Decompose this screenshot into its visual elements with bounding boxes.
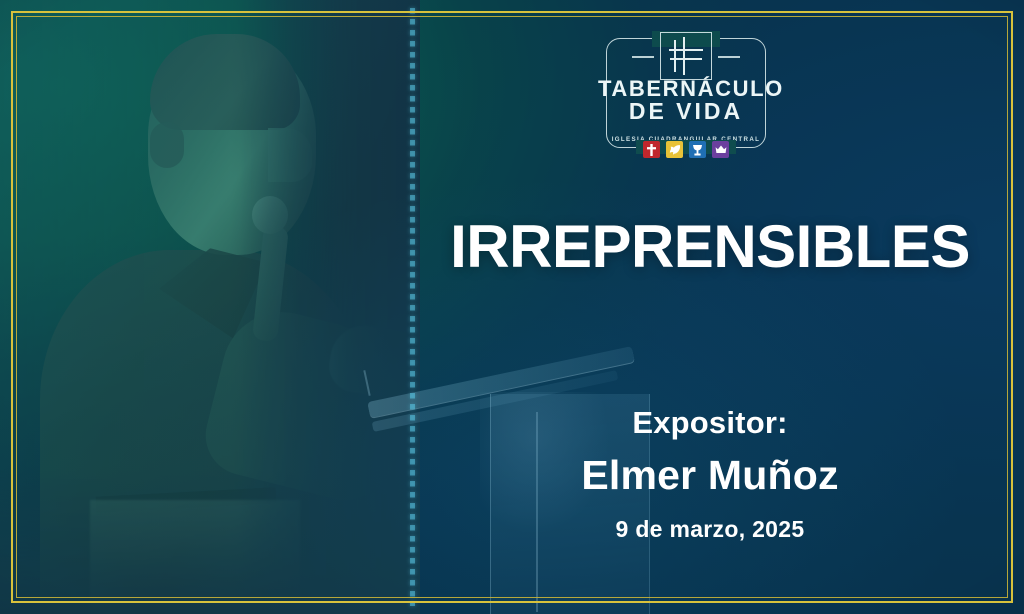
crown-icon xyxy=(712,141,729,158)
church-logo: TABERNÁCULO DE VIDA IGLESIA CUADRANGULAR… xyxy=(598,28,774,156)
speaker-name: Elmer Muñoz xyxy=(440,452,980,499)
cross-icon xyxy=(660,32,712,80)
expositor-label: Expositor: xyxy=(440,405,980,441)
cross-icon-horizontal xyxy=(670,58,702,60)
logo-rule-right xyxy=(718,56,740,58)
logo-symbol-row xyxy=(598,141,774,158)
sermon-slide: TABERNÁCULO DE VIDA IGLESIA CUADRANGULAR… xyxy=(0,0,1024,614)
cross-icon xyxy=(643,141,660,158)
logo-wordmark-line1: TABERNÁCULO xyxy=(598,78,774,100)
dove-icon xyxy=(666,141,683,158)
chalice-icon xyxy=(689,141,706,158)
logo-wordmark: TABERNÁCULO DE VIDA xyxy=(598,78,774,124)
logo-rule-left xyxy=(632,56,654,58)
sermon-date: 9 de marzo, 2025 xyxy=(440,516,980,543)
cross-icon-vertical xyxy=(674,40,676,72)
dotted-divider xyxy=(410,8,415,606)
logo-wordmark-line2: DE VIDA xyxy=(598,100,774,123)
sermon-title: IRREPRENSIBLES xyxy=(440,212,980,281)
